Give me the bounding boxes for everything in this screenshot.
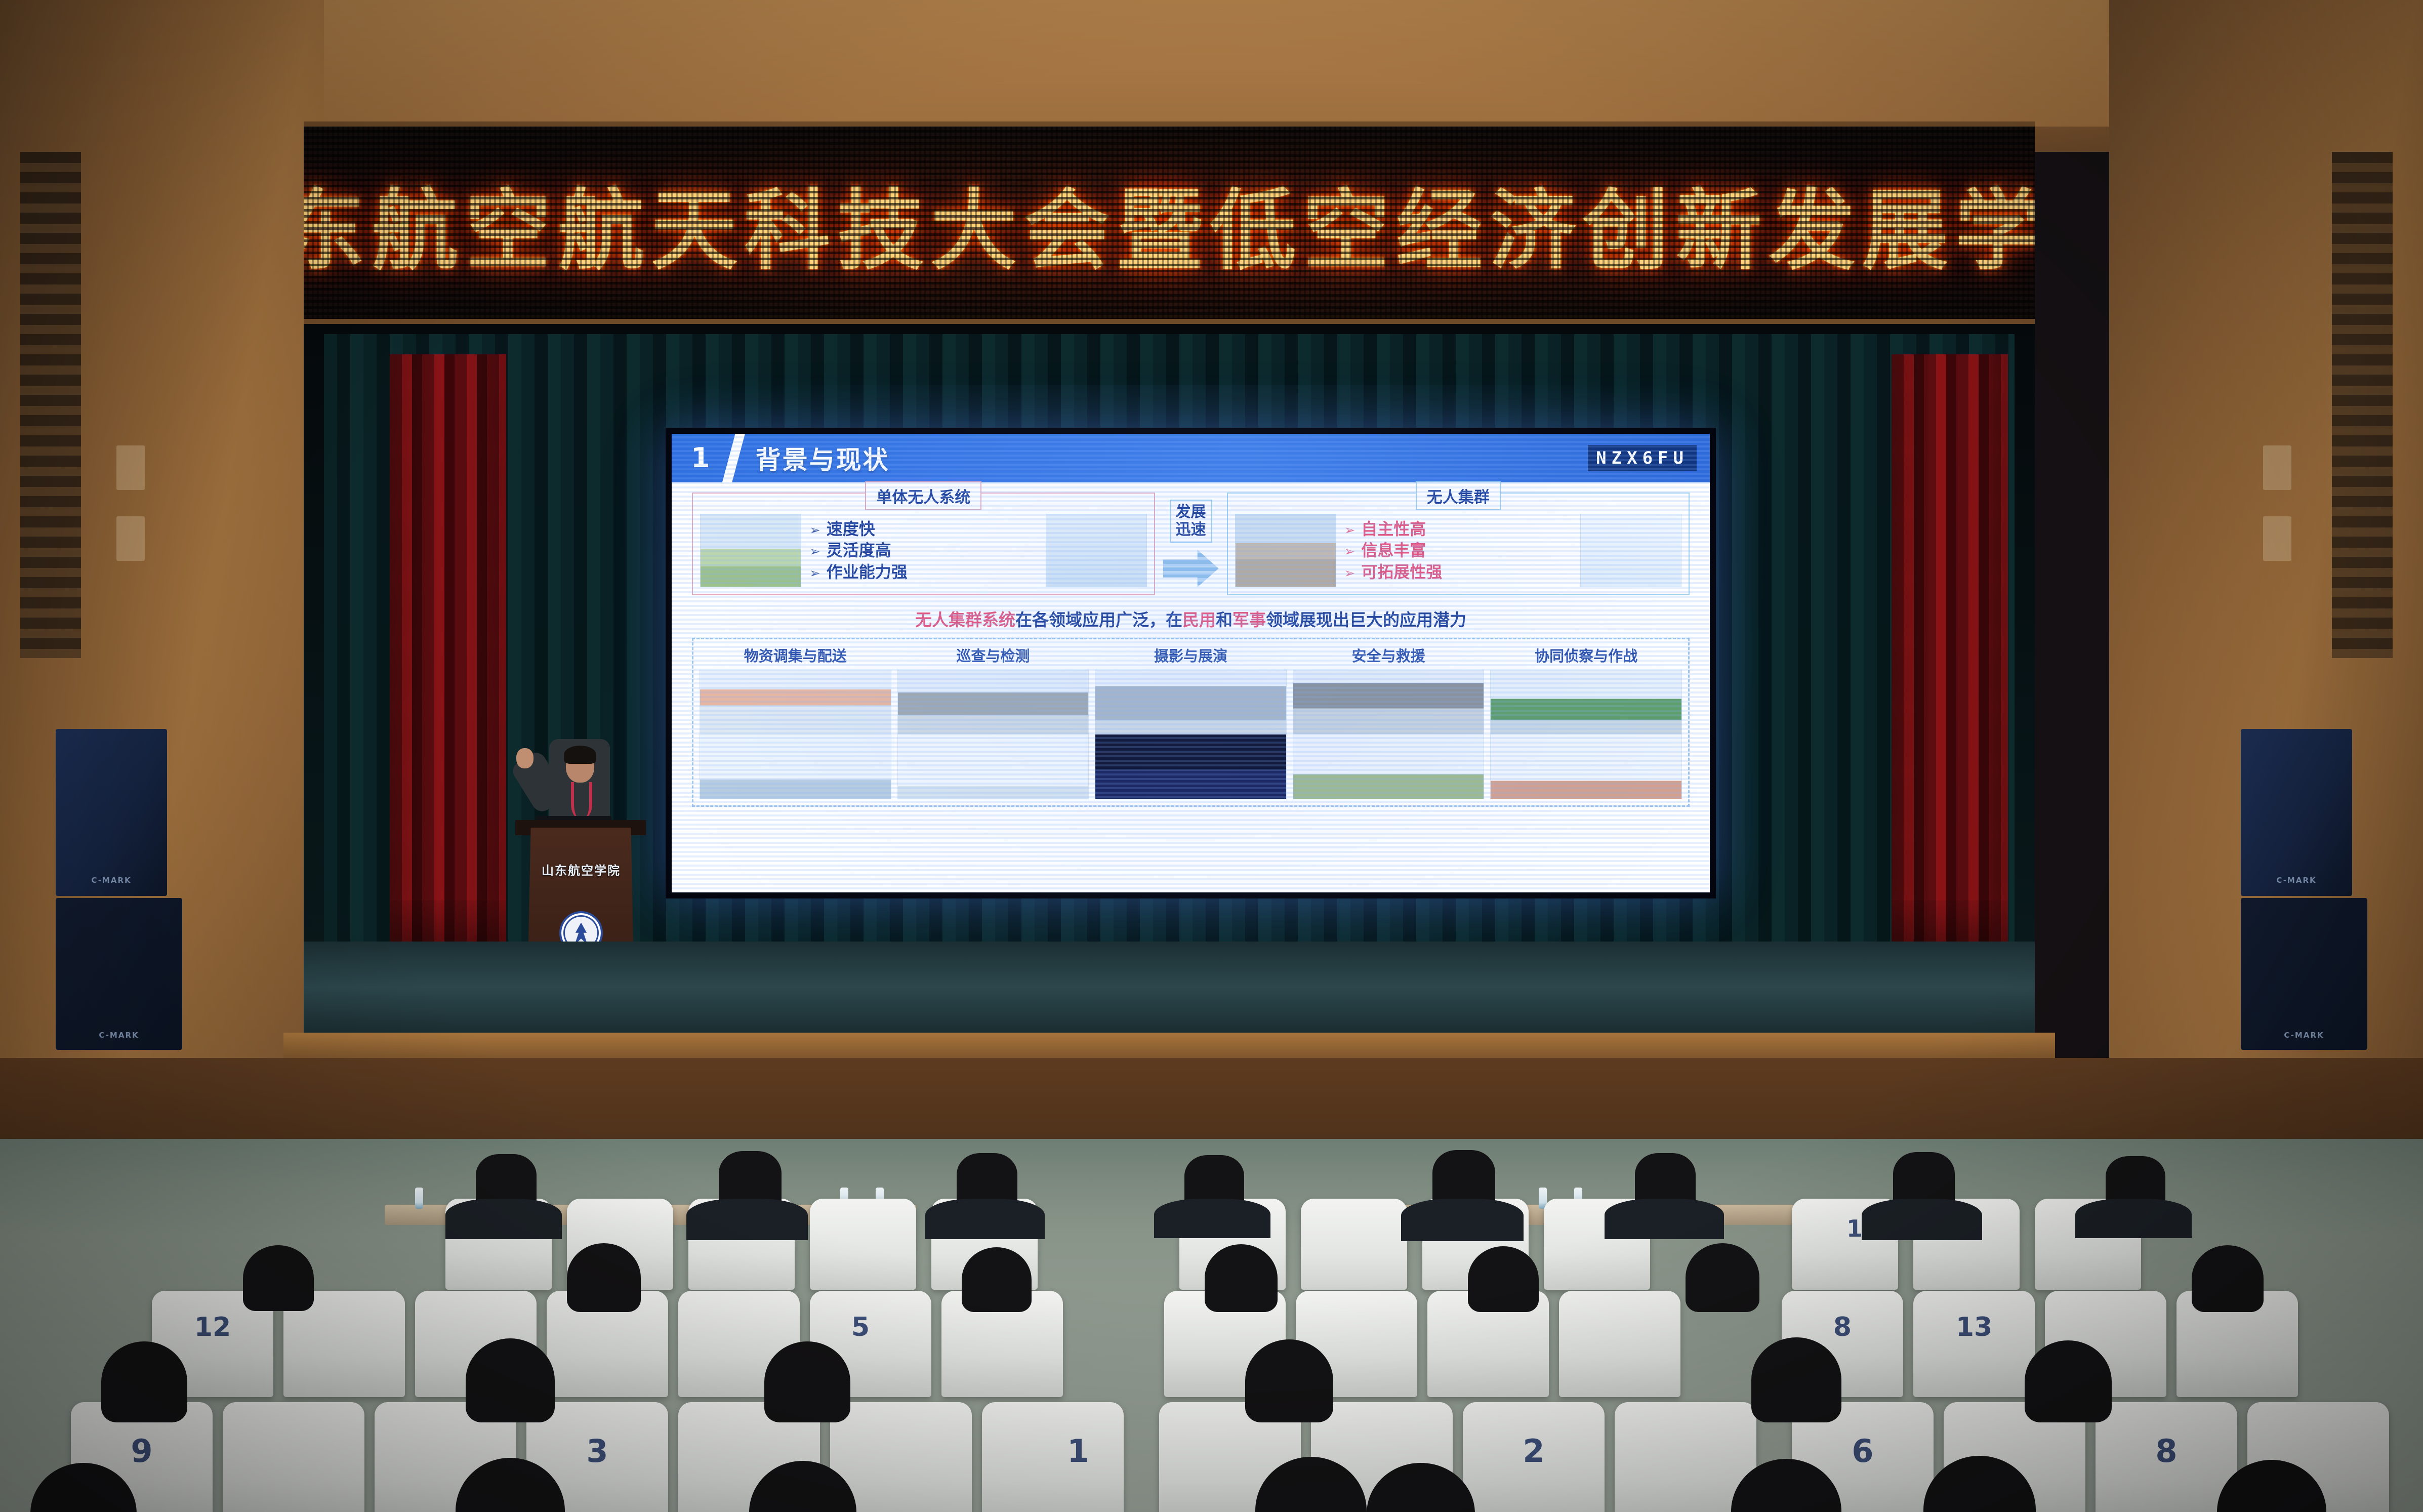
wall-decor-square — [116, 445, 145, 490]
application-label: 物资调集与配送 — [700, 644, 891, 666]
side-grille-left — [20, 152, 81, 658]
audience-person — [101, 1341, 187, 1422]
tagline-part-1: 无人集群系统 — [915, 610, 1015, 630]
proscenium-panel — [253, 0, 2176, 127]
wall-decor-square — [2263, 516, 2291, 561]
pa-brand-label: C-MARK — [2241, 729, 2352, 885]
audience-seating: 13 12 12 5 13 8 — [0, 1139, 2423, 1512]
application-label: 摄影与展演 — [1095, 644, 1287, 666]
seat[interactable] — [1913, 1291, 2035, 1397]
panel-right-content: 自主性高 信息丰富 可拓展性强 — [1235, 514, 1682, 587]
bullet-item: 可拓展性强 — [1344, 561, 1576, 583]
audience-shoulders — [1605, 1199, 1724, 1239]
tagline-part-3: 民用 — [1182, 610, 1216, 630]
seat[interactable] — [1559, 1291, 1680, 1397]
right-arrow-icon — [1163, 550, 1219, 587]
panel-left-bullets: 速度快 灵活度高 作业能力强 — [806, 518, 1041, 583]
pa-subwoofer-left: C-MARK — [56, 898, 182, 1050]
pa-speaker-top-left: C-MARK — [56, 729, 167, 896]
audience-person — [962, 1247, 1032, 1312]
auditorium-photo: 2025山东航空航天科技大会暨低空经济创新发展学术研讨会 1 背景与现状 NZX… — [0, 0, 2423, 1512]
thumbnail-single-drone — [1046, 514, 1147, 587]
seat-number: 1 — [1067, 1433, 1089, 1469]
application-column: 巡查与检测 — [897, 644, 1089, 799]
tagline-part-4: 和 — [1216, 610, 1233, 630]
slide-tagline: 无人集群系统在各领域应用广泛，在民用和军事领域展现出巨大的应用潜力 — [692, 606, 1690, 631]
application-label: 巡查与检测 — [897, 644, 1089, 666]
application-image-recon-swarm — [1490, 670, 1682, 734]
speaker-lanyard — [571, 782, 592, 819]
audience-shoulders — [445, 1199, 562, 1239]
seat-number: 8 — [1833, 1312, 1852, 1342]
audience-person — [1751, 1337, 1841, 1422]
application-column: 摄影与展演 — [1095, 644, 1287, 799]
comparison-row: 单体无人系统 速度快 灵活度高 作业能力强 — [692, 493, 1690, 595]
application-image-drone-light-show — [1095, 734, 1287, 799]
pa-speaker-stack-right: C-MARK C-MARK — [2241, 729, 2367, 1050]
audience-shoulders — [686, 1199, 808, 1240]
application-image-combat-swarm — [1490, 734, 1682, 799]
application-label: 安全与救援 — [1293, 644, 1485, 666]
bullet-item: 信息丰富 — [1344, 540, 1576, 561]
panel-right-caption: 无人集群 — [1416, 481, 1501, 510]
audience-shoulders — [2075, 1199, 2192, 1238]
panel-unmanned-swarm: 无人集群 自主性高 信息丰富 可拓展性强 — [1227, 493, 1690, 595]
application-column: 物资调集与配送 — [700, 644, 891, 799]
audience-shoulders — [925, 1199, 1045, 1239]
panel-single-unmanned-system: 单体无人系统 速度快 灵活度高 作业能力强 — [692, 493, 1155, 595]
stage-curtain-right — [1892, 354, 2008, 977]
slide-slash-decoration — [719, 434, 751, 482]
application-grid: 物资调集与配送 巡查与检测 摄影与展演 — [692, 638, 1690, 807]
audience-person — [567, 1243, 641, 1312]
pa-brand-label: C-MARK — [56, 898, 182, 1040]
speaker-hair — [564, 746, 596, 764]
arrow-caption-line2: 迅速 — [1176, 521, 1206, 539]
panel-left-caption: 单体无人系统 — [865, 481, 981, 510]
seat-number: 3 — [586, 1433, 608, 1469]
wall-decor-square — [116, 516, 145, 561]
seat[interactable] — [982, 1402, 1124, 1512]
application-column: 安全与救援 — [1293, 644, 1485, 799]
audience-person — [764, 1341, 850, 1422]
pa-speaker-stack-left: C-MARK C-MARK — [56, 729, 182, 1050]
slide-title: 背景与现状 — [756, 440, 890, 476]
speaker-hand — [516, 748, 533, 768]
presentation-slide: 1 背景与现状 NZX6FU 单体无人系统 速度快 灵活度高 作业能力 — [672, 434, 1710, 892]
pa-subwoofer-right: C-MARK — [2241, 898, 2367, 1050]
seat-number: 9 — [131, 1433, 152, 1469]
audience-person — [1245, 1339, 1333, 1422]
bullet-item: 灵活度高 — [809, 540, 1041, 561]
audience-shoulders — [1401, 1199, 1524, 1241]
audience-shoulders — [1862, 1199, 1982, 1240]
bullet-item: 速度快 — [809, 518, 1041, 540]
application-image-firefighting — [1293, 670, 1485, 734]
seat-number: 13 — [1956, 1312, 1992, 1342]
bullet-item: 作业能力强 — [809, 561, 1041, 583]
seat-number: 2 — [1523, 1433, 1544, 1469]
seat[interactable] — [223, 1402, 364, 1512]
audience-person — [1686, 1243, 1759, 1312]
application-image-delivery-drones — [700, 734, 891, 799]
seat-number: 5 — [851, 1312, 870, 1342]
arrow-caption: 发展 迅速 — [1170, 500, 1212, 543]
seat-number: 12 — [194, 1312, 231, 1342]
arrow-caption-line1: 发展 — [1176, 504, 1206, 521]
panel-right-bullets: 自主性高 信息丰富 可拓展性强 — [1341, 518, 1576, 583]
seat[interactable] — [1301, 1199, 1407, 1290]
audience-shoulders — [1154, 1199, 1270, 1238]
water-bottle — [415, 1188, 423, 1209]
thumbnail-ground-robot — [700, 514, 801, 587]
pa-brand-label: C-MARK — [2241, 898, 2367, 1040]
tagline-part-5: 军事 — [1233, 610, 1266, 630]
projection-screen: 1 背景与现状 NZX6FU 单体无人系统 速度快 灵活度高 作业能力 — [666, 428, 1716, 898]
audience-person — [1205, 1244, 1278, 1312]
pa-brand-label: C-MARK — [56, 729, 167, 885]
slide-section-number: 1 — [691, 444, 710, 472]
panel-left-content: 速度快 灵活度高 作业能力强 — [700, 514, 1147, 587]
application-image-inspection-diagram — [897, 734, 1089, 799]
thumbnail-vehicle-convoy — [1235, 514, 1336, 587]
seat-number: 8 — [2155, 1433, 2177, 1469]
stage-floor — [304, 942, 2035, 1043]
application-label: 协同侦察与作战 — [1490, 644, 1682, 666]
tagline-part-6: 领域展现出巨大的应用潜力 — [1266, 610, 1466, 630]
audience-person — [2025, 1340, 2112, 1422]
slide-body: 单体无人系统 速度快 灵活度高 作业能力强 — [672, 482, 1710, 892]
led-banner-text: 2025山东航空航天科技大会暨低空经济创新发展学术研讨会 — [304, 159, 2035, 287]
development-arrow-column: 发展 迅速 — [1158, 493, 1224, 587]
side-grille-right — [2332, 152, 2393, 658]
audience-person — [2192, 1245, 2264, 1312]
application-image-rescue — [1293, 734, 1485, 799]
application-image-inspection-robots — [897, 670, 1089, 734]
application-column: 协同侦察与作战 — [1490, 644, 1682, 799]
stage-curtain-left — [390, 354, 506, 977]
audience-person — [466, 1338, 555, 1422]
bullet-item: 自主性高 — [1344, 518, 1576, 540]
application-image-warehouse — [700, 670, 891, 734]
thumbnail-drone-swarm — [1580, 514, 1681, 587]
seat-number: 6 — [1852, 1433, 1873, 1469]
tagline-part-2: 在各领域应用广泛，在 — [1015, 610, 1182, 630]
audience-person — [1468, 1246, 1539, 1312]
audience-person — [243, 1245, 314, 1311]
application-image-aerial-photography — [1095, 670, 1287, 734]
slide-header: 1 背景与现状 NZX6FU — [672, 434, 1710, 482]
led-banner: 2025山东航空航天科技大会暨低空经济创新发展学术研讨会 — [304, 121, 2035, 324]
wall-decor-square — [2263, 445, 2291, 490]
slide-code-badge: NZX6FU — [1588, 445, 1697, 471]
pa-speaker-top-right: C-MARK — [2241, 729, 2352, 896]
podium-institution-name: 山东航空学院 — [530, 861, 632, 878]
seat[interactable] — [810, 1199, 916, 1290]
